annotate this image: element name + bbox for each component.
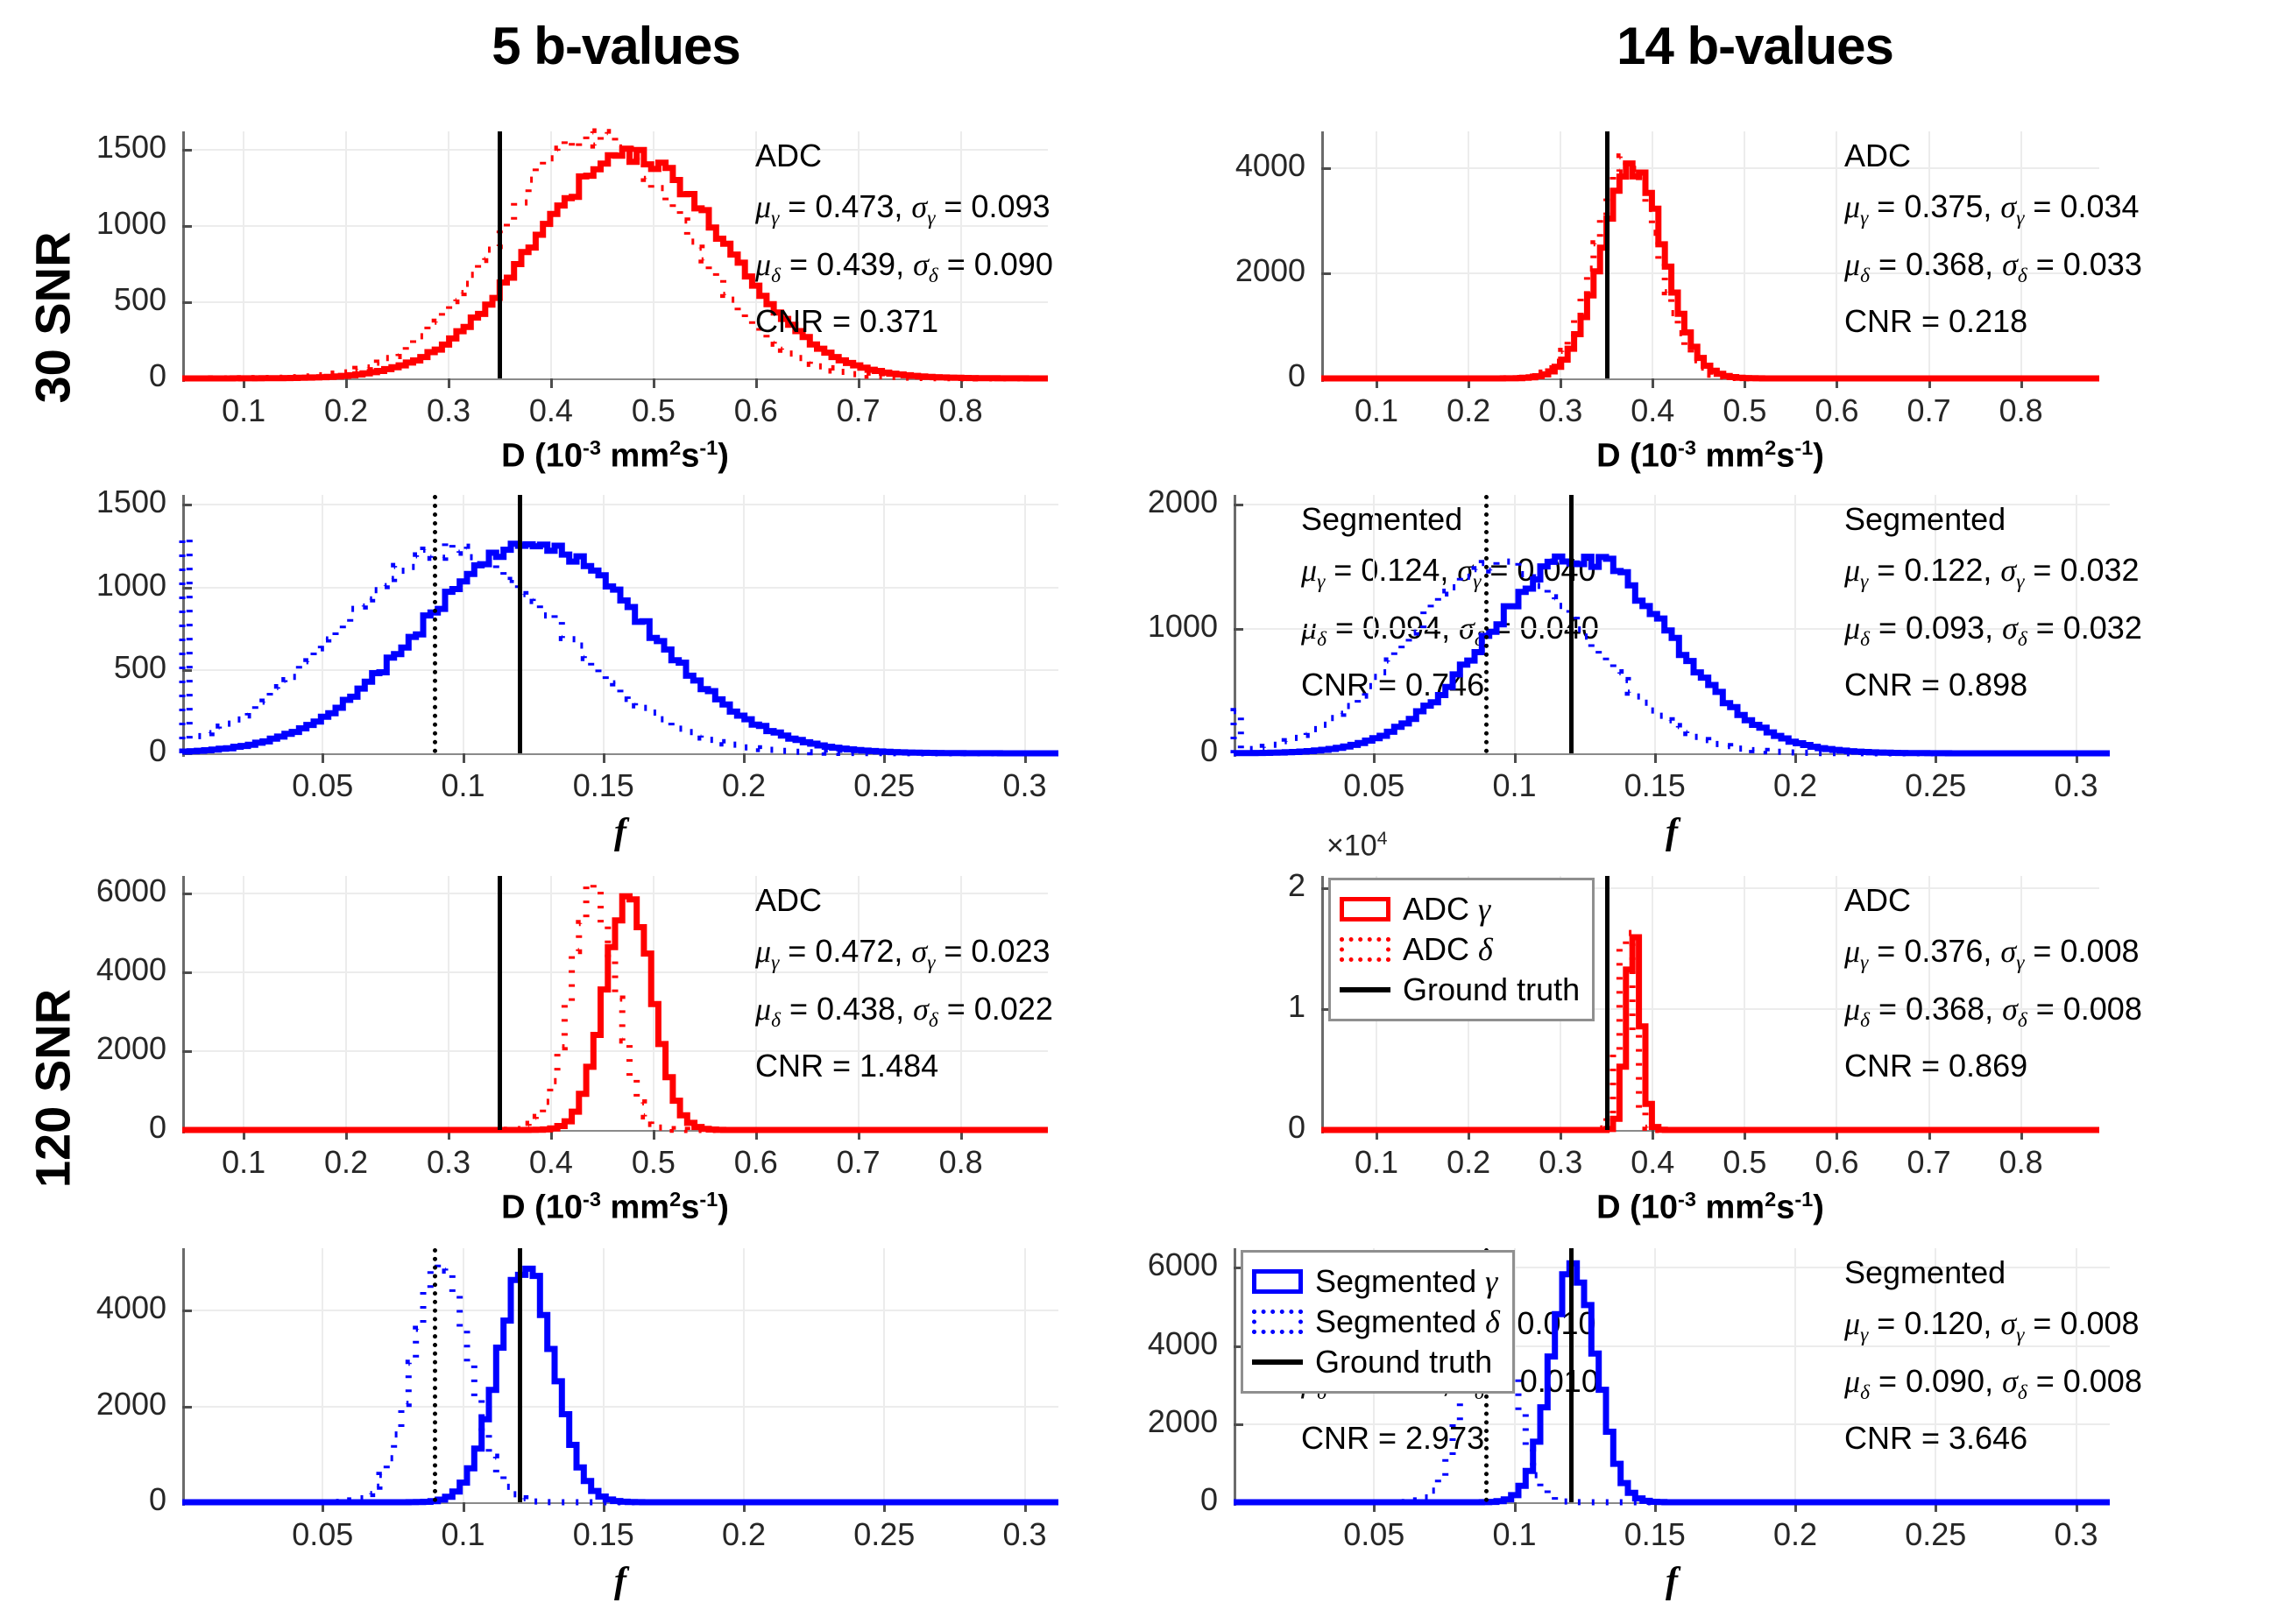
legend-swatch-solid [1252,1269,1303,1294]
legend-label: Ground truth [1315,1344,1492,1380]
annotation-cnr: CNR = 3.646 [1844,1423,2142,1454]
legend-p42: Segmented γSegmented δGround truth [1241,1250,1515,1394]
annotation-mu-sigma-gamma: μγ = 0.120, σγ = 0.008 [1844,1308,2142,1346]
legend-row: Ground truth [1252,1342,1500,1382]
annotation-method-label: Segmented [1844,1257,2142,1289]
panel-p42: 0.050.10.150.20.250.30200040006000fSegme… [0,0,2278,1624]
x-axis-label: f [1409,1560,1935,1602]
legend-row: Segmented γ [1252,1261,1500,1302]
legend-swatch-dotted [1252,1310,1303,1334]
ground-truth-line [1569,1248,1574,1502]
annotation-block-p42: Segmentedμγ = 0.120, σγ = 0.008μδ = 0.09… [1844,1257,2142,1454]
legend-label: Segmented γ [1315,1263,1497,1300]
figure-root: 5 b-values 14 b-values 30 SNR 120 SNR 0.… [0,0,2278,1624]
legend-label: Segmented δ [1315,1303,1500,1340]
annotation-mu-sigma-delta: μδ = 0.090, σδ = 0.008 [1844,1366,2142,1404]
legend-swatch-line [1252,1359,1303,1365]
legend-row: Segmented δ [1252,1302,1500,1342]
